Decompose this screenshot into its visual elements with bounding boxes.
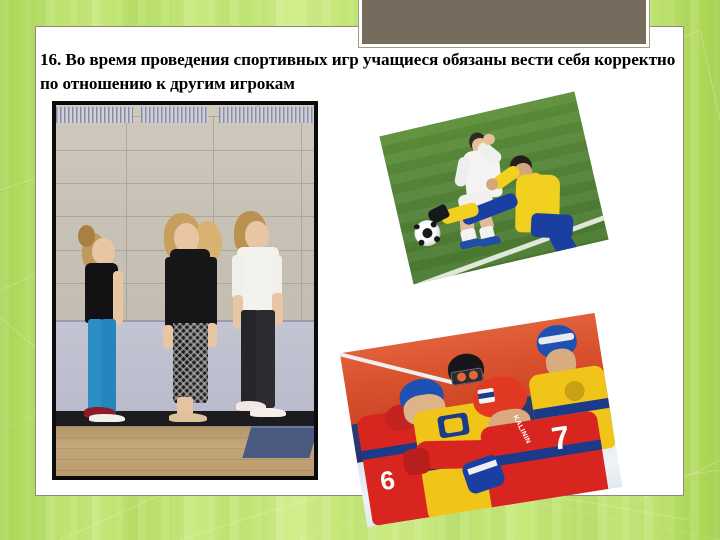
- soccer-jersey-number: 10: [546, 218, 557, 229]
- gym-mat: [242, 426, 314, 458]
- slide-title: 16. Во время проведения спортивных игр у…: [40, 48, 688, 97]
- image-placeholder-frame[interactable]: [358, 0, 650, 48]
- slide-canvas: 16. Во время проведения спортивных игр у…: [0, 0, 720, 540]
- gymnastics-photo-content: [56, 105, 314, 476]
- gymnastics-girls-photo[interactable]: [52, 101, 318, 480]
- image-placeholder-fill: [362, 0, 646, 44]
